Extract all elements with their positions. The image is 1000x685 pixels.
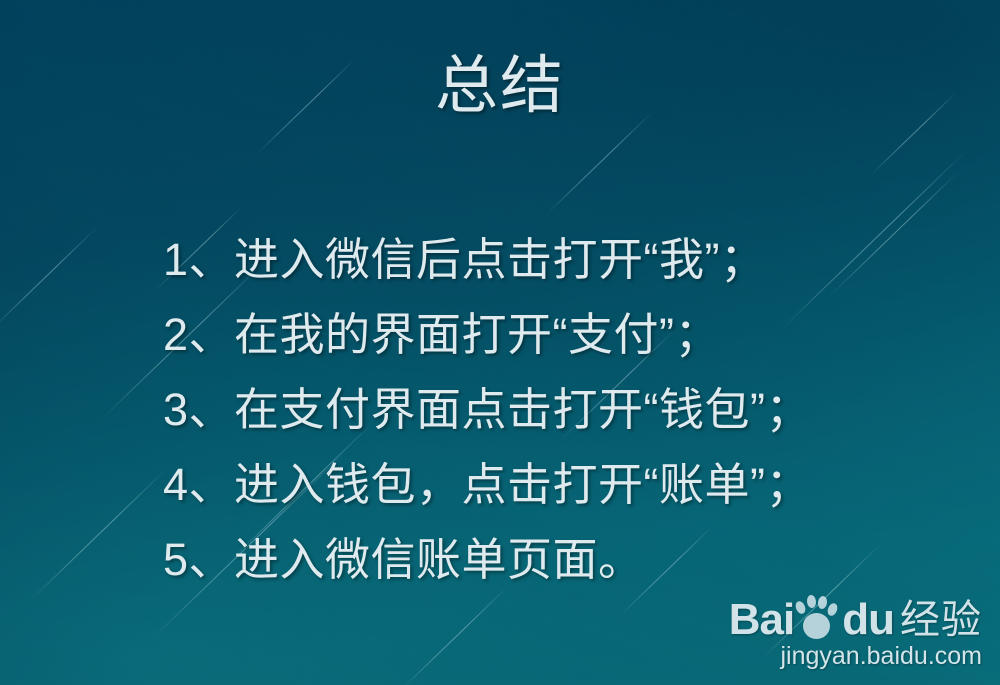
- baidu-logo-jingyan: 经验: [900, 599, 982, 641]
- watermark-url: jingyan.baidu.com: [729, 642, 982, 671]
- streak-line: [0, 226, 99, 331]
- presentation-slide: 总结 1、进入微信后点击打开“我”； 2、在我的界面打开“支付”； 3、在支付界…: [0, 0, 1000, 685]
- streak-line: [30, 468, 167, 601]
- baidu-logo-du: du: [842, 599, 894, 641]
- streak-line: [545, 111, 654, 216]
- baidu-logo-bai: Bai: [729, 599, 794, 641]
- list-item: 4、进入钱包，点击打开“账单”；: [163, 447, 960, 522]
- paw-toe: [794, 600, 807, 615]
- slide-title: 总结: [0, 52, 1000, 120]
- streak-line: [400, 586, 509, 685]
- list-item: 1、进入微信后点击打开“我”；: [163, 222, 960, 297]
- paw-toe: [826, 602, 839, 617]
- paw-toe: [817, 595, 828, 609]
- list-item: 5、进入微信账单页面。: [163, 522, 960, 597]
- baidu-jingyan-watermark: Bai du 经验 jingyan.baidu.com: [729, 595, 982, 671]
- paw-print-icon: [794, 595, 838, 641]
- summary-step-list: 1、进入微信后点击打开“我”； 2、在我的界面打开“支付”； 3、在支付界面点击…: [163, 222, 960, 597]
- list-item: 2、在我的界面打开“支付”；: [163, 297, 960, 372]
- list-item: 3、在支付界面点击打开“钱包”；: [163, 372, 960, 447]
- paw-toe: [807, 595, 817, 609]
- baidu-logo: Bai du 经验: [729, 595, 982, 641]
- paw-main-pad: [803, 613, 830, 639]
